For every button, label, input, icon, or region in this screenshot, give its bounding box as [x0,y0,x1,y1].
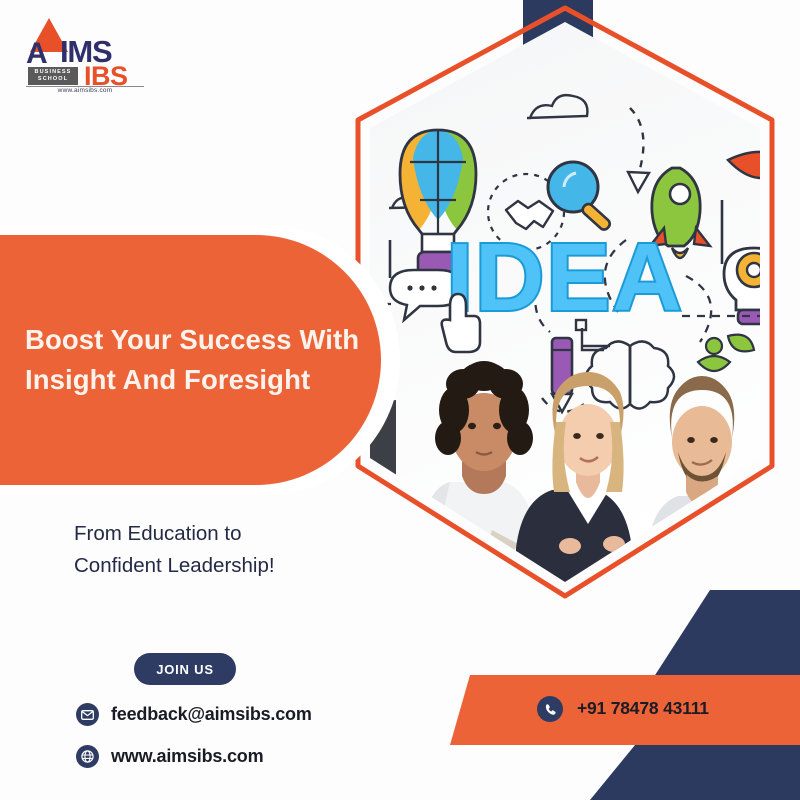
bottom-right-shapes [400,590,800,800]
subheading: From Education to Confident Leadership! [74,518,404,582]
svg-text:IDEA: IDEA [446,224,683,331]
contact-email-row[interactable]: feedback@aimsibs.com [76,703,312,726]
phone-number-text: +91 78478 43111 [577,698,709,719]
headline-banner: Boost Your Success With Insight And Fore… [0,235,381,485]
logo-url-text: www.aimsibs.com [26,87,144,94]
page-title: Boost Your Success With Insight And Fore… [0,320,377,400]
globe-icon [76,745,99,768]
subheading-line-1: From Education to [74,518,404,550]
phone-icon [537,696,563,722]
headline-line-2: Insight And Foresight [25,360,359,400]
logo-tagline-school: SCHOOL [31,76,75,83]
idea-word: IDEA [446,224,683,331]
logo-tagline-business: BUSINESS [31,69,75,76]
envelope-icon [76,703,99,726]
website-text: www.aimsibs.com [111,746,263,767]
email-text: feedback@aimsibs.com [111,704,312,725]
subheading-line-2: Confident Leadership! [74,550,404,582]
logo-second-row: BUSINESS SCHOOL IBS [26,65,146,87]
aims-ibs-logo[interactable]: A IMS BUSINESS SCHOOL IBS www.aimsibs.co… [26,18,146,94]
navy-diagonal-top [648,590,800,686]
headline-line-1: Boost Your Success With [25,320,359,360]
contact-website-row[interactable]: www.aimsibs.com [76,745,263,768]
join-us-button[interactable]: JOIN US [134,653,236,685]
logo-business-school-badge: BUSINESS SCHOOL [28,67,78,85]
promotional-poster: A IMS BUSINESS SCHOOL IBS www.aimsibs.co… [0,0,800,800]
